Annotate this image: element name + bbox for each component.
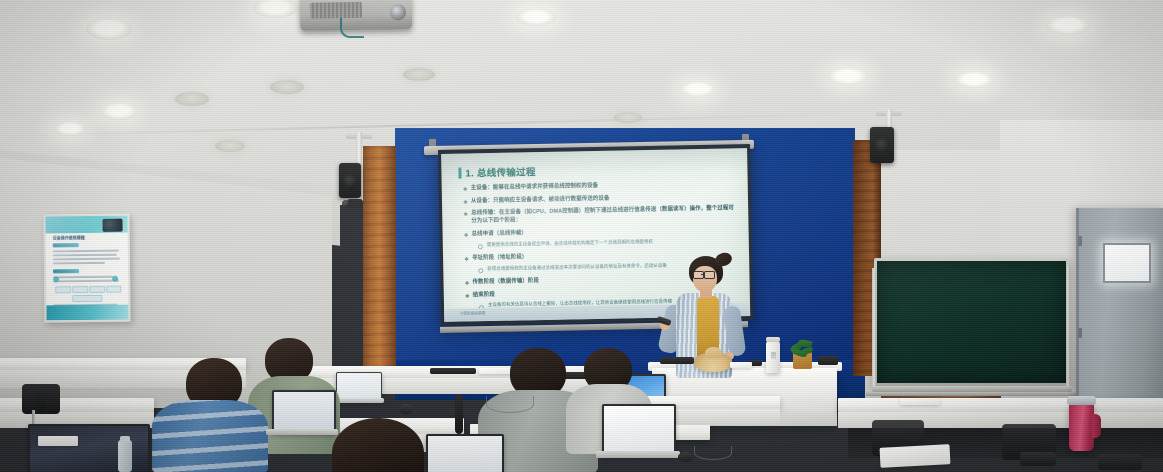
cable	[486, 396, 534, 413]
slide-title: 1. 总线传输过程	[458, 164, 536, 179]
slide-subbullet-text: 获得总线使用权的主设备通过总线发出本次要访问的从设备的地址及有关命令，启动从设备	[487, 262, 667, 272]
slide-title-marker	[458, 167, 461, 178]
desk-papers	[479, 368, 513, 374]
subbullet-marker-icon	[478, 244, 483, 249]
slide-bullet: 总线传输：在主设备（如CPU、DMA控制器）控制下通过总线进行信息传送（数据读写…	[464, 204, 738, 225]
poster-glass-reflection	[45, 216, 128, 321]
bullet-marker-icon	[464, 257, 468, 261]
bullet-marker-icon	[464, 233, 468, 237]
downlight	[1046, 16, 1090, 35]
tumbler-lid	[1067, 396, 1096, 405]
thermos-label	[771, 352, 776, 359]
podium-dark-item	[818, 356, 838, 365]
laptop-screen[interactable]	[426, 434, 504, 472]
slide-bullet-text: 总线申请（总线仲裁）	[472, 229, 528, 238]
door-hinge	[1078, 236, 1082, 246]
presenter-glasses-right	[704, 271, 715, 279]
projector-lens	[390, 4, 406, 20]
downlight	[955, 72, 993, 88]
slide-title-text: 1. 总线传输过程	[465, 164, 536, 179]
speaker-cone	[875, 137, 889, 153]
downlight	[614, 112, 642, 123]
slide-bullet-text: 主设备：能够在总线中请求并获得总线控制权的设备	[471, 182, 599, 193]
slide-bullet-text: 总线传输：在主设备（如CPU、DMA控制器）控制下通过总线进行信息传送（数据读写…	[471, 204, 738, 225]
student-shirt	[152, 400, 268, 472]
slide-bullet-text: 结束阶段	[473, 291, 495, 300]
slide-bullet-text: 寻址阶段（地址阶段）	[472, 253, 528, 262]
slide-subbullet: 需要使用总线的主设备提出申请，由总线仲裁机构确定下一个总线周期的总线使用权	[478, 237, 739, 250]
desk-papers	[900, 398, 940, 405]
presenter-glasses-bridge	[701, 274, 705, 275]
wood-column-left	[363, 146, 396, 370]
classroom-door[interactable]	[1076, 208, 1163, 420]
desk-row-back-right	[838, 398, 1163, 412]
laptop-base	[266, 429, 338, 435]
desk-papers	[38, 436, 78, 446]
chalkboard	[874, 258, 1069, 386]
wall-speaker-left	[339, 163, 361, 198]
wall-speaker-right	[870, 127, 894, 163]
slide-footer-text: 计算机组成原理	[460, 311, 485, 316]
chalkboard-crossbar	[866, 392, 1078, 396]
desk-papers	[880, 444, 951, 468]
presenter-face	[693, 266, 717, 292]
downlight	[403, 68, 435, 81]
microphone[interactable]	[36, 386, 46, 412]
projector-cable	[340, 18, 364, 38]
slide-bullet: 总线申请（总线仲裁）	[465, 225, 739, 238]
subbullet-marker-icon	[478, 268, 483, 273]
downlight	[516, 9, 556, 26]
laptop-base	[596, 451, 680, 458]
water-bottle-cap	[120, 436, 130, 442]
bullet-marker-icon	[463, 199, 467, 203]
laptop-screen[interactable]	[336, 372, 382, 401]
chalkboard-leg-left	[872, 268, 876, 392]
bullet-marker-icon	[465, 294, 469, 298]
door-window-pane	[1103, 243, 1151, 283]
door-hinge	[1078, 328, 1082, 338]
straw-hat-crown	[705, 347, 722, 358]
desk-item	[1098, 454, 1142, 470]
laptop-screen[interactable]	[602, 404, 676, 456]
green-plant	[789, 340, 815, 368]
desk-item	[1020, 452, 1056, 466]
tumbler-handle[interactable]	[1092, 414, 1101, 438]
plant-leaf	[800, 347, 813, 356]
desk-equipment	[430, 368, 476, 374]
chalkboard-surface	[877, 261, 1066, 383]
bullet-marker-icon	[465, 281, 469, 285]
thermos-cap	[766, 337, 780, 342]
slide-bullet-text: 传数阶段（数据传输）阶段	[472, 277, 539, 286]
podium-dark-item	[660, 357, 694, 364]
bullet-marker-icon	[464, 212, 468, 216]
downlight	[54, 122, 86, 136]
classroom-photo: 1. 总线传输过程 主设备：能够在总线中请求并获得总线控制权的设备 从设备：只能…	[0, 0, 1163, 472]
cable	[694, 446, 732, 460]
wall-poster: 设备操作使用规程	[43, 214, 130, 323]
downlight	[828, 68, 868, 85]
downlight	[270, 80, 304, 94]
bullet-marker-icon	[463, 187, 467, 191]
slide-bullet: 从设备：只能响应主设备请求、被动进行数据传送的设备	[464, 192, 738, 205]
chalkboard-leg-right	[1066, 266, 1070, 392]
downlight	[680, 82, 716, 97]
water-bottle[interactable]	[118, 440, 132, 472]
downlight	[215, 140, 245, 152]
slide-bullet-text: 从设备：只能响应主设备请求、被动进行数据传送的设备	[471, 194, 610, 205]
downlight	[175, 92, 209, 106]
red-tumbler[interactable]	[1069, 403, 1094, 451]
podium-papers	[730, 362, 752, 368]
speaker-cone	[343, 173, 356, 188]
slide-bullet: 主设备：能够在总线中请求并获得总线控制权的设备	[464, 179, 738, 192]
microphone[interactable]	[455, 394, 463, 434]
projector-vent	[310, 2, 362, 19]
mouse[interactable]	[678, 452, 693, 462]
recording-camera	[347, 199, 363, 208]
laptop-screen[interactable]	[272, 390, 336, 434]
mouse[interactable]	[399, 404, 413, 414]
downlight	[86, 18, 132, 40]
downlight	[100, 103, 138, 120]
slide-subbullet-text: 需要使用总线的主设备提出申请，由总线仲裁机构确定下一个总线周期的总线使用权	[487, 238, 653, 248]
